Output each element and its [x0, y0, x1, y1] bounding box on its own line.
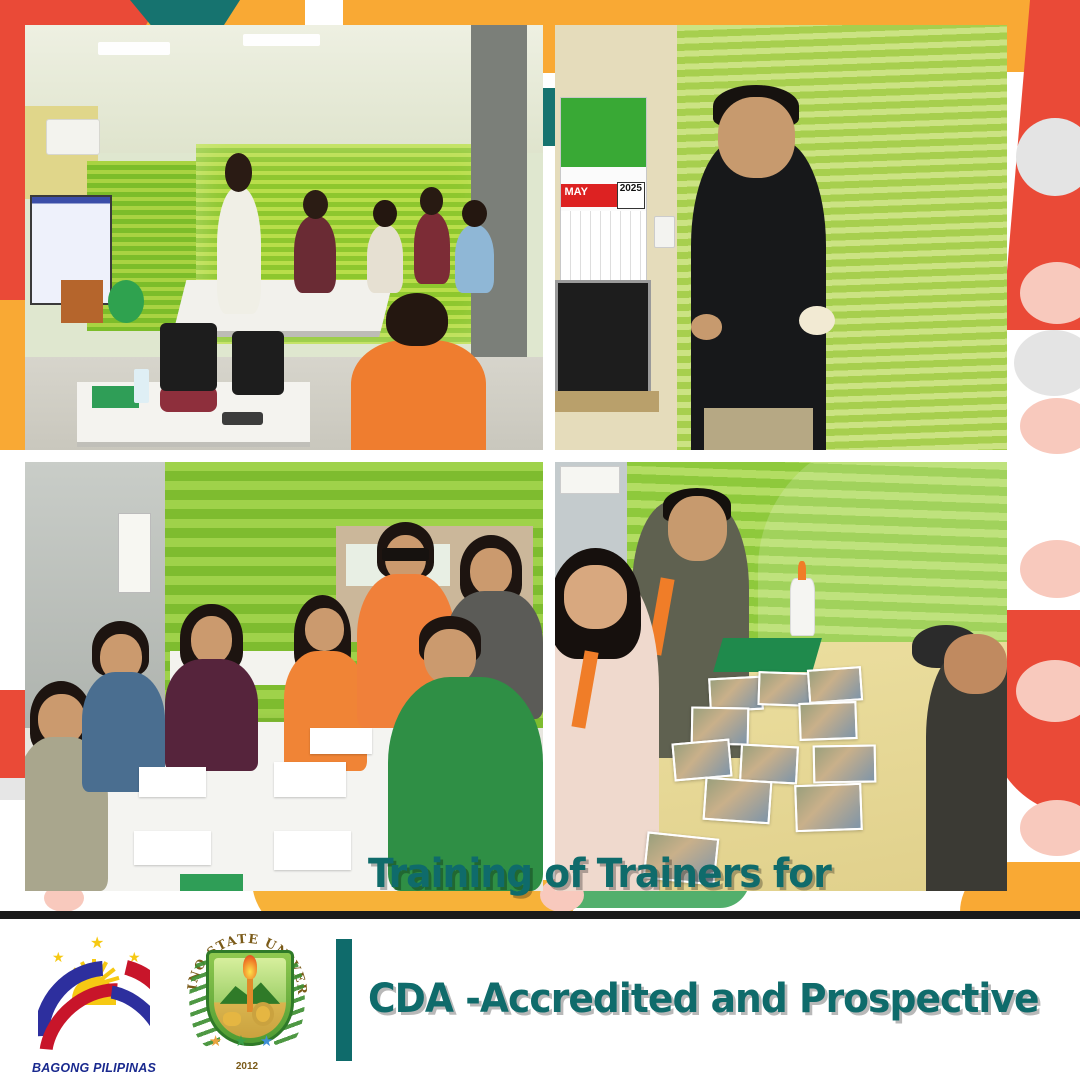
participant-1 [294, 216, 335, 293]
star-top: ★ [90, 933, 104, 953]
participant-6-head [470, 548, 511, 595]
poster-canvas: MAY 2025 [0, 0, 1080, 1080]
calendar-month-label: MAY [561, 184, 619, 207]
worksheet-5 [310, 728, 372, 754]
participant-5-eyeglasses [382, 548, 429, 561]
seal-year: 2012 [172, 1061, 322, 1072]
participant-3 [414, 212, 450, 284]
participant-4-head [305, 608, 344, 651]
poster-title-line-2: CDA -Accredited and Prospective [368, 979, 1038, 1021]
ceiling-light-2 [243, 34, 321, 47]
cog-motif [252, 1002, 274, 1026]
torch-flame [243, 955, 257, 979]
participant-woman-head [564, 565, 627, 629]
title-block: Training of Trainers for CDA -Accredited… [336, 771, 1080, 1080]
poster-title: Training of Trainers for CDA -Accredited… [368, 771, 1038, 1080]
ceiling-light-1 [98, 42, 171, 55]
participant-4 [455, 225, 494, 293]
wall-notice [118, 513, 151, 592]
bagong-pilipinas-logo: ★ ★ ★ BAGONG PILIPINAS [24, 925, 164, 1075]
corn-motif [223, 1012, 242, 1026]
swoosh-bowl [38, 959, 150, 1057]
calendar-date-grid [561, 211, 647, 289]
electric-fan [108, 280, 144, 323]
speaker-hand-with-paper [799, 306, 835, 336]
participant-3-head [191, 616, 232, 663]
green-folder [180, 874, 242, 891]
edge-dot-pink-2 [1020, 398, 1080, 454]
shield-interior [214, 958, 286, 1038]
green-folder-1 [92, 386, 139, 407]
quirino-state-university-seal: QUIRINO STATE UNIVERSITY ★★★ [172, 924, 322, 1076]
participant-2 [367, 225, 403, 293]
drinking-glass [134, 369, 150, 403]
printed-photo-3 [807, 666, 863, 704]
presenter-with-microphone [217, 187, 261, 315]
office-chair-1 [160, 323, 217, 391]
logo-group: ★ ★ ★ BAGONG PILIPINAS [0, 924, 322, 1076]
calendar-picture [561, 98, 647, 167]
wall-calendar: MAY 2025 [560, 97, 648, 290]
wall-notice [560, 466, 621, 494]
participant-foreground-orange-shirt [351, 340, 486, 451]
worksheet-1 [139, 767, 206, 797]
speaker-hand-with-clicker [691, 314, 723, 340]
speaker-head [718, 97, 795, 178]
speaker-body [691, 140, 827, 450]
concrete-pillar [471, 25, 528, 374]
calendar-year-label: 2025 [617, 182, 645, 209]
computer-monitor [555, 280, 651, 397]
photo-male-speaker: MAY 2025 [555, 25, 1007, 450]
phone-on-table [222, 412, 263, 425]
participant-3-body [165, 659, 258, 771]
bagong-pilipinas-label: BAGONG PILIPINAS [24, 1061, 164, 1075]
office-chair-2 [232, 331, 284, 395]
light-switch [654, 216, 674, 248]
edge-dot-grey-2 [1014, 330, 1080, 396]
photo-collage-grid: MAY 2025 [25, 25, 1007, 891]
printed-photo-5 [798, 701, 858, 741]
footer-bar: ★ ★ ★ BAGONG PILIPINAS [0, 919, 1080, 1080]
glue-bottle [790, 578, 815, 636]
participant-olive-shirt-head [668, 496, 727, 560]
speaker-trousers [704, 408, 812, 451]
worksheet-2 [134, 831, 212, 865]
seal-stars: ★★★ [172, 1032, 322, 1050]
participant-right-head [944, 634, 1007, 694]
poster-title-line-1: Training of Trainers for [368, 854, 1038, 896]
photo-classroom-presenter [25, 25, 543, 450]
title-accent-bar [336, 939, 352, 1061]
air-conditioner [46, 119, 100, 155]
edge-dot-pink-3 [1020, 540, 1080, 598]
printed-photo-2 [758, 671, 813, 707]
computer-desk [555, 391, 659, 412]
green-folder [713, 638, 822, 672]
wooden-chair [61, 280, 102, 323]
